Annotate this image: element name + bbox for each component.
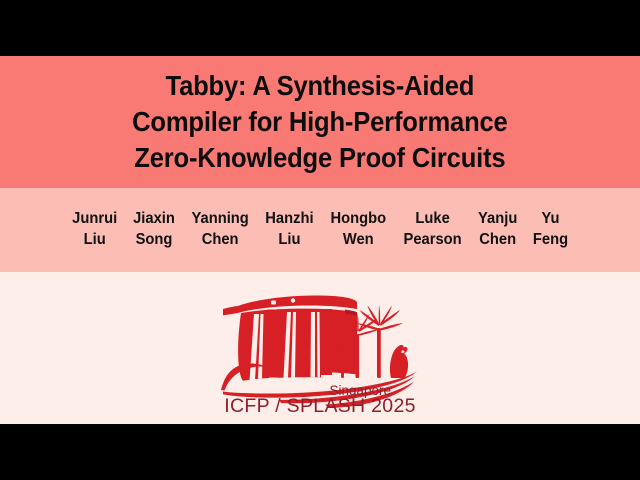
author-entry: Hanzhi Liu (266, 209, 314, 251)
authors-band: Junrui Liu Jiaxin Song Yanning Chen Hanz… (0, 188, 640, 272)
letterbox-top-bar (0, 0, 640, 56)
logo-conference-label: ICFP / SPLASH 2025 (224, 395, 415, 414)
page-title: Tabby: A Synthesis-Aided Compiler for Hi… (106, 68, 534, 177)
author-entry: Hongbo Wen (331, 209, 387, 251)
author-given-name: Hongbo (331, 209, 387, 230)
author-given-name: Jiaxin (133, 209, 175, 230)
author-entry: Yanning Chen (192, 209, 249, 251)
author-given-name: Yanning (192, 209, 249, 230)
author-given-name: Yu (533, 209, 568, 230)
video-frame: Tabby: A Synthesis-Aided Compiler for Hi… (0, 0, 640, 480)
author-entry: Jiaxin Song (133, 209, 175, 251)
author-family-name: Liu (266, 230, 314, 251)
author-entry: Yanju Chen (478, 209, 517, 251)
author-family-name: Liu (72, 230, 117, 251)
author-family-name: Song (133, 230, 175, 251)
author-family-name: Feng (533, 230, 568, 251)
author-given-name: Luke (403, 209, 461, 230)
author-entry: Junrui Liu (72, 209, 117, 251)
letterbox-bottom-bar (0, 424, 640, 480)
title-band: Tabby: A Synthesis-Aided Compiler for Hi… (0, 56, 640, 188)
authors-list: Junrui Liu Jiaxin Song Yanning Chen Hanz… (10, 209, 630, 251)
author-given-name: Junrui (72, 209, 117, 230)
author-family-name: Pearson (403, 230, 461, 251)
conference-logo: Singapore ICFP / SPLASH 2025 (205, 282, 435, 414)
author-entry: Yu Feng (533, 209, 568, 251)
author-entry: Luke Pearson (403, 209, 461, 251)
author-family-name: Chen (192, 230, 249, 251)
author-given-name: Yanju (478, 209, 517, 230)
author-family-name: Chen (478, 230, 517, 251)
presentation-slide: Tabby: A Synthesis-Aided Compiler for Hi… (0, 56, 640, 424)
slide-body: Singapore ICFP / SPLASH 2025 (0, 272, 640, 424)
icfp-splash-2025-singapore-logo-icon: Singapore ICFP / SPLASH 2025 (205, 282, 435, 414)
author-given-name: Hanzhi (266, 209, 314, 230)
author-family-name: Wen (331, 230, 387, 251)
